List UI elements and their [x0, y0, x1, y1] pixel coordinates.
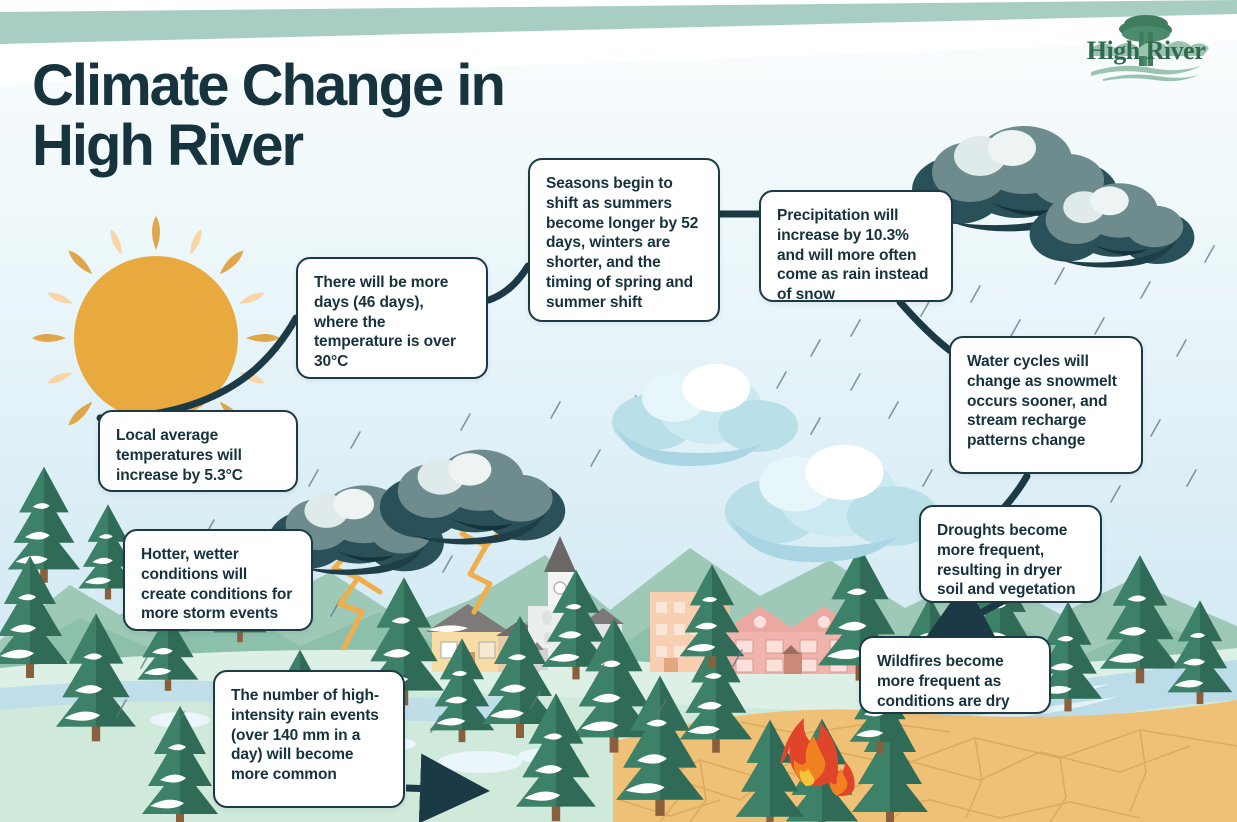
high-river-logo-text: High River — [1071, 36, 1221, 66]
river-wave-icon — [1091, 66, 1201, 81]
infographic-canvas: Climate Change in High River High River — [0, 0, 1237, 822]
high-river-logo[interactable]: High River — [1071, 10, 1221, 82]
callout-hot-days[interactable]: There will be more days (46 days), where… — [296, 257, 488, 379]
callout-water-cycles[interactable]: Water cycles will change as snowmelt occ… — [949, 336, 1143, 474]
callout-storm-events[interactable]: Hotter, wetter conditions will create co… — [123, 529, 313, 631]
callout-precipitation[interactable]: Precipitation will increase by 10.3% and… — [759, 190, 953, 302]
callout-local-temperatures[interactable]: Local average temperatures will increase… — [98, 410, 298, 492]
callout-high-intensity-rain[interactable]: The number of high-intensity rain events… — [213, 670, 405, 808]
callout-droughts[interactable]: Droughts become more frequent, resulting… — [919, 505, 1102, 603]
callout-wildfires[interactable]: Wildfires become more frequent as condit… — [859, 636, 1051, 714]
callout-seasons[interactable]: Seasons begin to shift as summers become… — [528, 158, 720, 322]
page-title: Climate Change in High River — [32, 56, 504, 177]
